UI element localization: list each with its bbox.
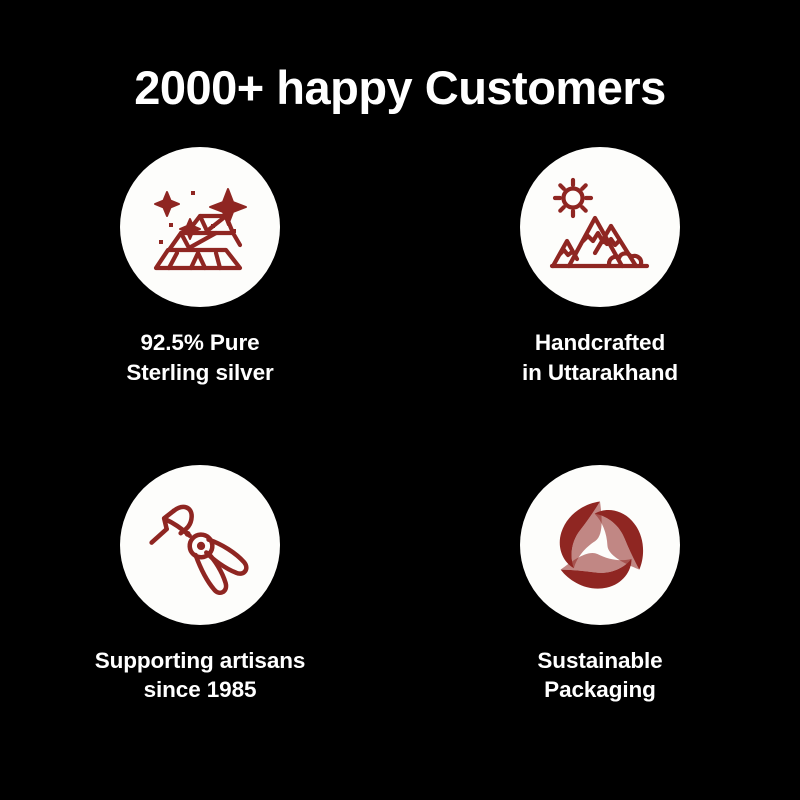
jewelers-pliers-icon: [141, 486, 259, 604]
three-leaves-recycle-icon: [542, 487, 658, 603]
feature-label: 92.5% Pure Sterling silver: [126, 328, 273, 388]
feature-icon-badge: [520, 147, 680, 307]
mountains-sun-icon: [540, 167, 660, 287]
feature-label-line1: Supporting artisans: [95, 648, 306, 673]
feature-label-line2: since 1985: [95, 675, 306, 705]
feature-item-supporting-artisans: Supporting artisans since 1985: [35, 465, 365, 706]
feature-label-line1: 92.5% Pure: [140, 330, 259, 355]
feature-label-line2: in Uttarakhand: [522, 358, 678, 388]
silver-bars-sparkle-icon: [140, 167, 260, 287]
feature-icon-badge: [520, 465, 680, 625]
feature-item-sterling-silver: 92.5% Pure Sterling silver: [35, 147, 365, 388]
feature-label: Sustainable Packaging: [537, 646, 662, 706]
promo-poster: 2000+ happy Customers: [0, 0, 800, 800]
feature-label: Supporting artisans since 1985: [95, 646, 306, 706]
feature-item-sustainable-packaging: Sustainable Packaging: [435, 465, 765, 706]
page-title: 2000+ happy Customers: [134, 62, 666, 114]
feature-label-line1: Sustainable: [537, 648, 662, 673]
feature-icon-badge: [120, 465, 280, 625]
feature-label: Handcrafted in Uttarakhand: [522, 328, 678, 388]
feature-label-line2: Packaging: [537, 675, 662, 705]
feature-item-handcrafted: Handcrafted in Uttarakhand: [435, 147, 765, 388]
feature-label-line2: Sterling silver: [126, 358, 273, 388]
feature-grid: 92.5% Pure Sterling silver: [0, 147, 800, 706]
feature-label-line1: Handcrafted: [535, 330, 665, 355]
feature-icon-badge: [120, 147, 280, 307]
